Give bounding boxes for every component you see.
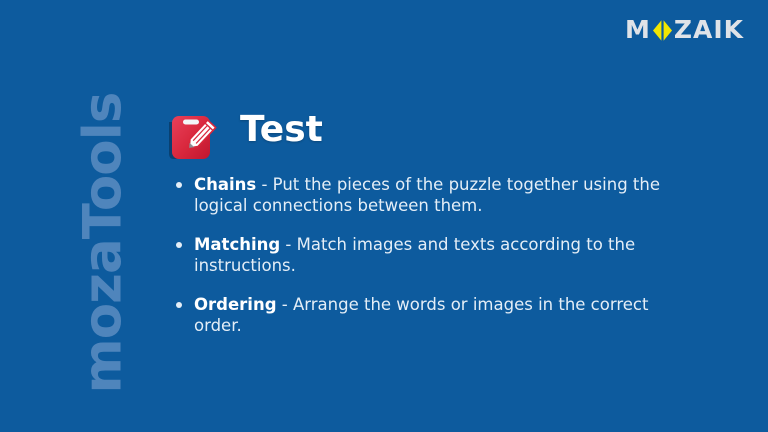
logo-letters-before: M (625, 17, 651, 43)
logo-letters-after: ZAIK (674, 17, 744, 43)
feature-list: Chains - Put the pieces of the puzzle to… (164, 174, 664, 336)
feature-term: Matching (194, 235, 280, 254)
list-item: Matching - Match images and texts accord… (164, 234, 664, 276)
content-block: Test Chains - Put the pieces of the puzz… (164, 108, 744, 336)
list-item: Chains - Put the pieces of the puzzle to… (164, 174, 664, 216)
feature-term: Chains (194, 175, 256, 194)
page-title: Test (240, 108, 323, 152)
feature-separator: - (277, 295, 293, 314)
mozatools-watermark: mozaTools (77, 64, 130, 394)
feature-separator: - (280, 235, 296, 254)
mozaik-logo: M ZAIK (625, 17, 744, 43)
test-pencil-icon (164, 108, 222, 164)
bullet-icon (176, 182, 182, 188)
feature-term: Ordering (194, 295, 277, 314)
bullet-icon (176, 242, 182, 248)
slide-canvas: M ZAIK mozaTools (0, 0, 768, 432)
mozaik-diamond-icon (652, 18, 673, 43)
bullet-icon (176, 302, 182, 308)
feature-separator: - (256, 175, 272, 194)
list-item: Ordering - Arrange the words or images i… (164, 294, 664, 336)
title-row: Test (164, 108, 744, 164)
